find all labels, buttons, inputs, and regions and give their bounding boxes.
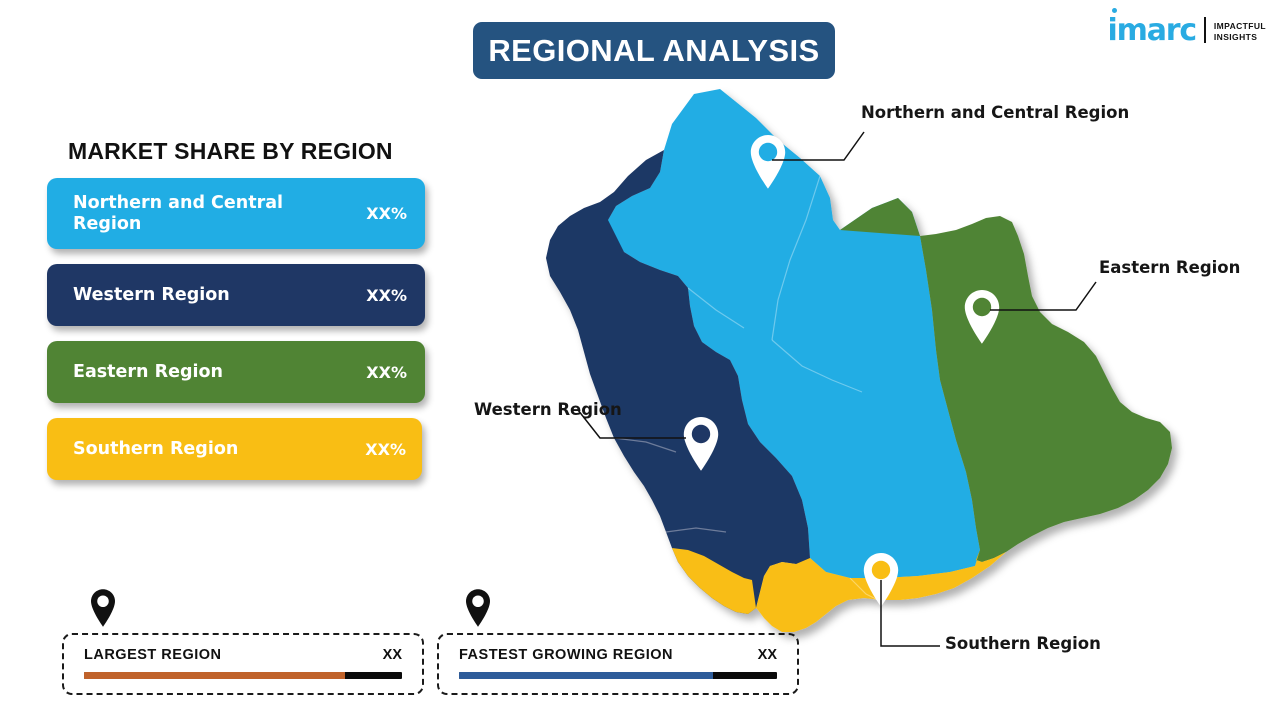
legend-item-value: XX% (366, 363, 407, 382)
logo-dot-icon (1112, 8, 1117, 13)
stat-value: XX (383, 647, 402, 663)
market-share-legend: Northern and Central Region XX% Western … (47, 178, 429, 495)
logo-wordmark: imarc (1108, 13, 1196, 48)
map-svg (520, 80, 1220, 660)
map-pin-icon (88, 588, 118, 628)
page-title-banner: REGIONAL ANALYSIS (473, 22, 835, 79)
page-title: REGIONAL ANALYSIS (488, 33, 819, 69)
legend-item-label: Western Region (73, 285, 356, 306)
legend-item-label: Southern Region (73, 439, 355, 460)
logo-tagline: IMPACTFUL INSIGHTS (1214, 21, 1266, 46)
map-callout-northern-and-central: Northern and Central Region (861, 103, 1129, 122)
imarc-logo: imarc IMPACTFUL INSIGHTS (1108, 16, 1266, 46)
legend-item-eastern[interactable]: Eastern Region XX% (47, 341, 425, 403)
stat-progress-track (84, 672, 402, 679)
map-callout-southern: Southern Region (945, 634, 1101, 653)
logo-divider (1204, 17, 1206, 43)
stat-progress-track (459, 672, 777, 679)
stat-largest-box: LARGEST REGION XX (62, 633, 424, 695)
map-regions (546, 89, 1172, 632)
stat-progress-fill (459, 672, 713, 679)
legend-item-value: XX% (366, 286, 407, 305)
saudi-arabia-regional-map (520, 80, 1220, 660)
logo-tagline-line1: IMPACTFUL (1214, 21, 1266, 32)
stat-largest-region: LARGEST REGION XX (62, 588, 424, 695)
legend-item-western[interactable]: Western Region XX% (47, 264, 425, 326)
map-callout-eastern: Eastern Region (1099, 258, 1240, 277)
stat-label: LARGEST REGION (84, 647, 222, 663)
legend-item-label: Northern and Central Region (73, 193, 356, 235)
market-share-heading: MARKET SHARE BY REGION (68, 138, 393, 165)
legend-item-southern[interactable]: Southern Region XX% (47, 418, 422, 480)
legend-item-label: Eastern Region (73, 362, 356, 383)
map-pin-icon (463, 588, 493, 628)
stat-progress-fill (84, 672, 345, 679)
legend-item-northern-and-central[interactable]: Northern and Central Region XX% (47, 178, 425, 249)
logo-tagline-line2: INSIGHTS (1214, 32, 1266, 43)
logo-wordmark-wrap: imarc (1108, 16, 1196, 46)
legend-item-value: XX% (365, 440, 406, 459)
legend-item-value: XX% (366, 204, 407, 223)
map-callout-western: Western Region (474, 400, 622, 419)
